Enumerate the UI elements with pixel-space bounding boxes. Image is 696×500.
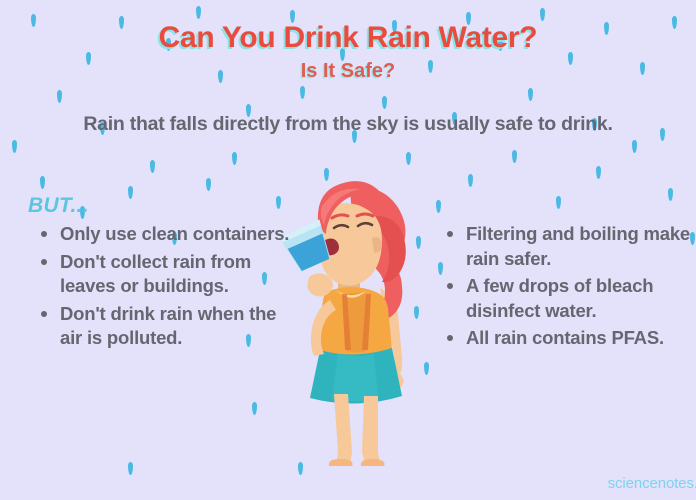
raindrop-icon — [128, 462, 133, 475]
list-item-label: Only use clean containers. — [60, 223, 289, 244]
raindrop-icon — [382, 96, 387, 109]
raindrop-icon — [596, 166, 601, 179]
raindrop-icon — [300, 86, 305, 99]
raindrop-icon — [232, 152, 237, 165]
list-item: A few drops of bleach disinfect water. — [442, 274, 696, 323]
raindrop-icon — [406, 152, 411, 165]
list-item-label: A few drops of bleach disinfect water. — [466, 275, 653, 321]
raindrop-icon — [528, 88, 533, 101]
raindrop-icon — [150, 160, 155, 173]
raindrop-icon — [196, 6, 201, 19]
list-item-label: Don't drink rain when the air is pollute… — [60, 303, 276, 349]
raindrop-icon — [540, 8, 545, 21]
list-item: All rain contains PFAS. — [442, 326, 696, 351]
bullet-dot-icon — [41, 311, 47, 317]
raindrop-icon — [252, 402, 257, 415]
raindrop-icon — [436, 200, 441, 213]
list-item-label: Don't collect rain from leaves or buildi… — [60, 251, 251, 297]
list-item: Don't collect rain from leaves or buildi… — [36, 250, 298, 299]
lead-statement: Rain that falls directly from the sky is… — [0, 113, 696, 136]
raindrop-icon — [128, 186, 133, 199]
right-bullet-list: Filtering and boiling make rain safer.A … — [442, 222, 696, 354]
left-bullet-list: Only use clean containers.Don't collect … — [36, 222, 298, 354]
title-block: Can You Drink Rain Water? Is It Safe? — [0, 22, 696, 82]
raindrop-icon — [632, 140, 637, 153]
bullet-dot-icon — [447, 283, 453, 289]
bullet-dot-icon — [41, 259, 47, 265]
page-title: Can You Drink Rain Water? — [0, 22, 696, 54]
list-item: Only use clean containers. — [36, 222, 298, 247]
raindrop-icon — [57, 90, 62, 103]
raindrop-icon — [12, 140, 17, 153]
list-item: Filtering and boiling make rain safer. — [442, 222, 696, 271]
list-item: Don't drink rain when the air is pollute… — [36, 302, 298, 351]
bullet-dot-icon — [41, 231, 47, 237]
raindrop-icon — [512, 150, 517, 163]
raindrop-icon — [206, 178, 211, 191]
bullet-dot-icon — [447, 231, 453, 237]
watermark: sciencenotes. — [608, 475, 696, 492]
bullet-dot-icon — [447, 335, 453, 341]
list-item-label: All rain contains PFAS. — [466, 327, 664, 348]
raindrop-icon — [668, 188, 673, 201]
but-label: BUT... — [28, 194, 89, 218]
infographic-canvas: Can You Drink Rain Water? Is It Safe? Ra… — [0, 0, 696, 500]
raindrop-icon — [40, 176, 45, 189]
raindrop-icon — [468, 174, 473, 187]
raindrop-icon — [556, 196, 561, 209]
list-item-label: Filtering and boiling make rain safer. — [466, 223, 690, 269]
page-subtitle: Is It Safe? — [0, 61, 696, 82]
